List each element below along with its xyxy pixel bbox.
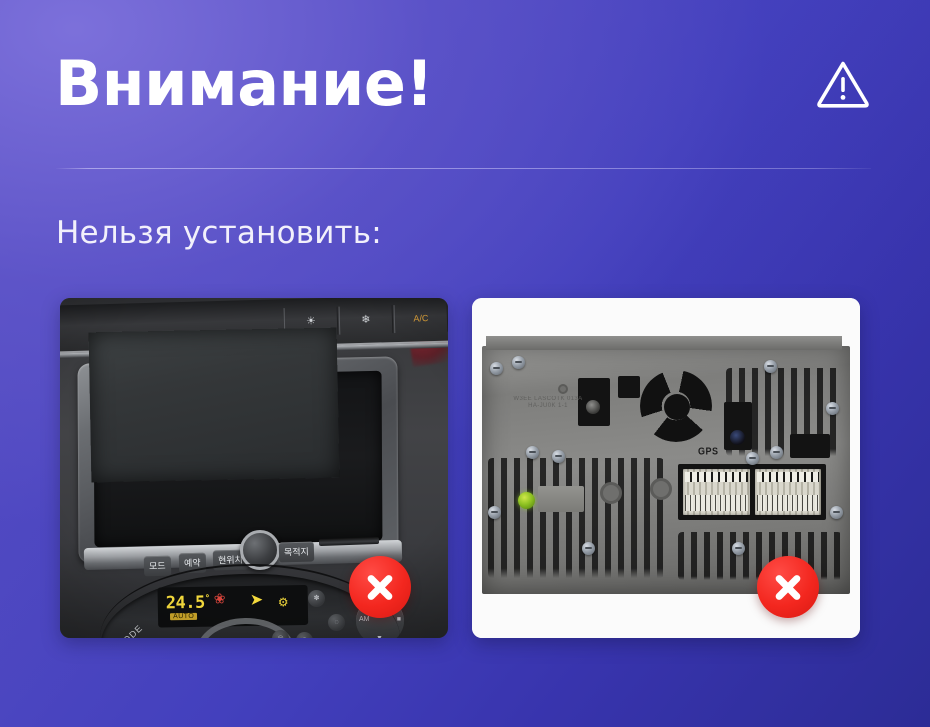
screw (488, 506, 501, 519)
header-divider (56, 168, 871, 169)
page-title: Внимание! (55, 48, 433, 120)
iso-connector-b (755, 469, 822, 515)
screw (582, 542, 595, 555)
screw (490, 362, 503, 375)
chassis-label-plate (538, 486, 584, 512)
screw (830, 506, 843, 519)
screw (732, 542, 745, 555)
iso-connector-a (683, 469, 750, 515)
gps-port (724, 402, 752, 450)
chassis-top-lip (486, 336, 842, 350)
auxiliary-port (790, 434, 830, 458)
screw (526, 446, 539, 459)
green-led-indicator (518, 492, 535, 509)
chassis-etched-text: W3EE LASCOTK 013A HA-JU0K 1-1 (510, 396, 586, 410)
x-mark-icon (349, 556, 411, 618)
fan-vent-hub (664, 394, 690, 420)
subtitle: Нельзя установить: (56, 213, 382, 253)
screw (746, 452, 759, 465)
card-car-dashboard: ☀ ❄ A/C 모드 예약 현위치 목적지 (60, 298, 448, 638)
screw (770, 446, 783, 459)
header: Внимание! (55, 48, 870, 138)
screw (512, 356, 525, 369)
mounting-hole-1 (600, 482, 622, 504)
card-head-unit-rear: GPS W3EE LASCOTK 013A HA-JU0K 1-1 (472, 298, 860, 638)
screw (826, 402, 839, 415)
warning-triangle-icon (816, 58, 870, 110)
wiring-connector-block (678, 464, 826, 520)
gps-label: GPS (698, 446, 719, 457)
photo-card-group: ☀ ❄ A/C 모드 예약 현위치 목적지 (60, 298, 870, 638)
square-port (618, 376, 640, 398)
mounting-hole-2 (650, 478, 672, 500)
x-mark-icon (757, 556, 819, 618)
screw (764, 360, 777, 373)
mounting-hole-3 (558, 384, 568, 394)
heatsink-fins-left (488, 458, 664, 578)
warning-slide: Внимание! Нельзя установить: ☀ ❄ A/C (0, 0, 930, 727)
screw (552, 450, 565, 463)
